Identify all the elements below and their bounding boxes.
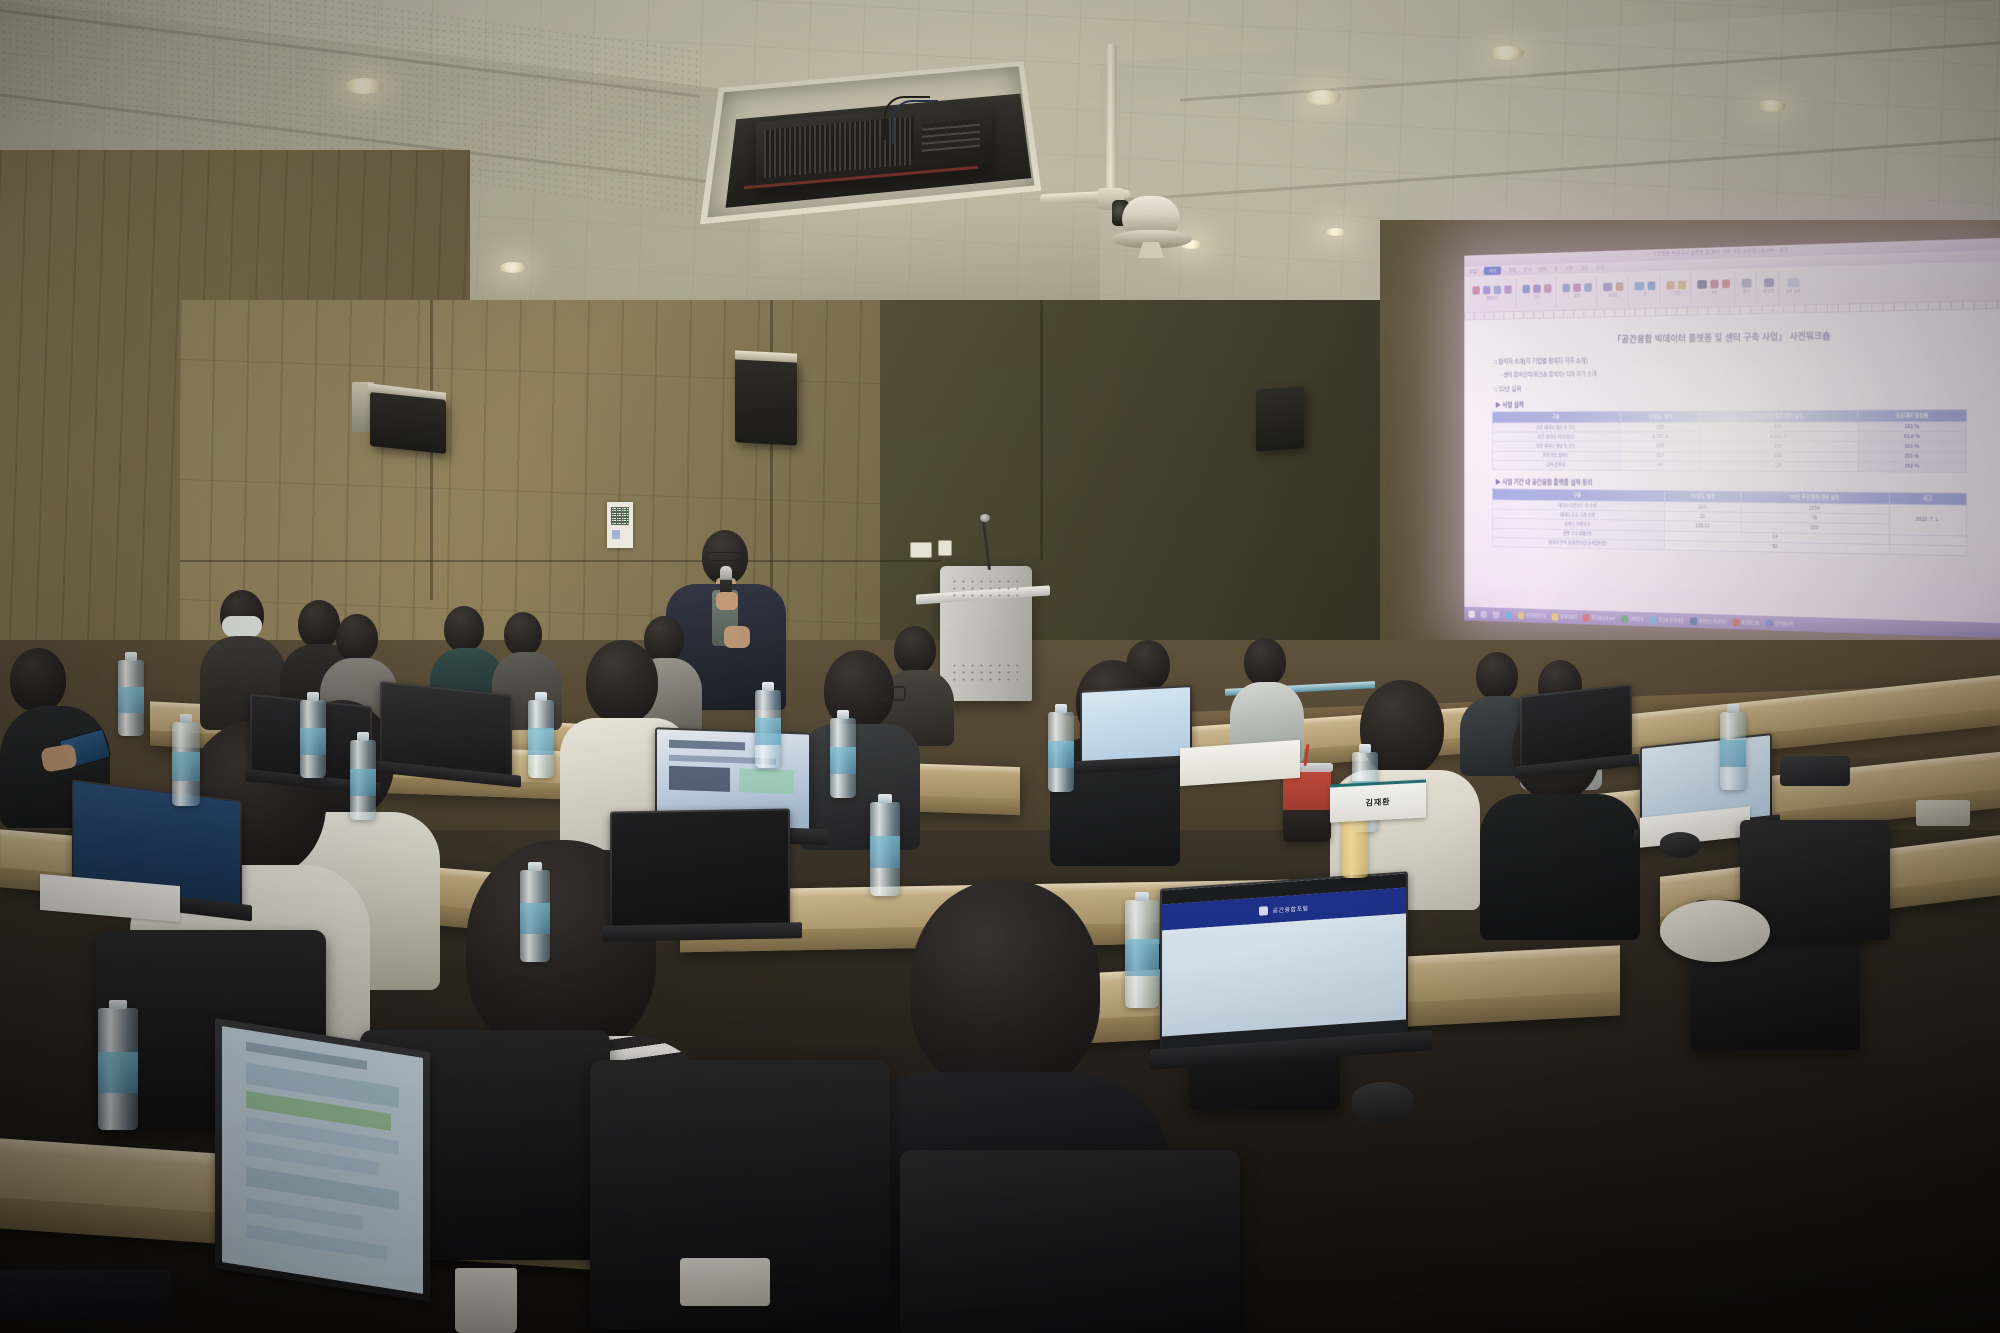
wall-speaker-right (1256, 386, 1304, 451)
object-icon[interactable] (1697, 280, 1707, 289)
table-row: 공간 데이터 처리(개수) 2,707.2 4,391.7 61.6 % (1492, 432, 1966, 442)
paper-coffee-cup (455, 1268, 517, 1333)
ribbon-group-label: 표 (1643, 292, 1646, 298)
col-header: 구분 (1492, 411, 1620, 423)
tissue-box (680, 1258, 770, 1306)
taskbar-item-attendees[interactable]: 참석자명단 (1552, 613, 1577, 621)
ribbon-group-object[interactable]: 개체 (1693, 271, 1735, 305)
attendee-head (1244, 638, 1286, 686)
qr-code-poster (607, 502, 633, 548)
slide-bullet: - 센터 참여인력(워크숍 참석자) 각자 자기 소개 (1500, 364, 1967, 378)
wall-outlet (910, 542, 932, 558)
cell-rate: 101 % (1858, 422, 1967, 432)
col-header: '22년도 실적 (1620, 411, 1700, 423)
table-icon[interactable] (1635, 282, 1644, 291)
cell-rate: 61.6 % (1858, 432, 1967, 442)
cell-planned: 163 (1701, 442, 1858, 452)
table2-heading: ▶ 사업 기간 내 공간융합 플랫폼 실적 정리 (1495, 476, 1967, 489)
ribbon-group-label: 보기 설정 (1786, 289, 1800, 295)
frame-icon[interactable] (1711, 280, 1719, 289)
lectern-speaker-grille (950, 578, 1018, 600)
cell-planned: 29 (1701, 461, 1858, 472)
water-bottle (830, 718, 856, 798)
row-label: 민간기업 참여수 (1492, 451, 1620, 461)
chart-icon[interactable] (1648, 281, 1656, 290)
row-label: 데이터 분석 요청건수(신규사업포함) (1492, 537, 1664, 550)
wall-seam (180, 560, 940, 562)
windows-start-icon[interactable] (1468, 610, 1474, 618)
ribbon-group-label: 찾기 (1743, 289, 1750, 295)
shape-icon[interactable] (1678, 281, 1686, 290)
taskbar-item-label: 워크숍자료.pdf (1591, 615, 1614, 621)
attendee-laptop-right-2[interactable] (1520, 690, 1640, 772)
menu-active-tab[interactable]: 서식 (1484, 266, 1501, 275)
menu-item-file[interactable]: 파일 (1469, 268, 1476, 275)
attendee-torso (1480, 794, 1640, 940)
water-bottle (172, 722, 200, 806)
attendee-laptop-center-front[interactable] (610, 810, 800, 940)
ribbon-group-paragraph[interactable]: 문단 (1558, 275, 1597, 308)
slide-title: 「공간융합 빅데이터 플랫폼 및 센터 구축 사업」 사전워크숍 (1492, 326, 1967, 348)
water-bottle (350, 740, 376, 820)
ceiling-downlight (345, 78, 383, 94)
row-label: 공간 데이터 개방 총 건수 (1492, 442, 1620, 452)
water-bottle (1048, 712, 1074, 792)
water-bottle (300, 700, 326, 778)
cell-note: 2022. 7. 1. (1890, 504, 1967, 535)
ribbon-group-style[interactable]: 스타일 (1599, 274, 1629, 307)
menu-item-tools[interactable]: 도구 (1596, 264, 1604, 271)
cell-rate: 152 % (1858, 462, 1967, 473)
wall-speaker-center (735, 356, 797, 445)
qr-code-icon (611, 507, 629, 525)
brush-icon[interactable] (1504, 285, 1511, 293)
ceiling-downlight (500, 262, 526, 273)
col-header: '22년 추진계획 대비 실적 (1701, 410, 1858, 422)
iced-coffee-cup (1283, 770, 1331, 842)
water-bottle (1720, 712, 1746, 790)
row-label: 실적 활용처 (1492, 460, 1620, 470)
taskbar-item-excel[interactable]: 실적집계 (1621, 615, 1644, 623)
qr-poster-accent (612, 530, 620, 539)
taskbar-item-label: 참석자명단 (1560, 614, 1577, 620)
cell-actual: 2,707.2 (1620, 432, 1700, 442)
indent-icon[interactable] (1584, 283, 1592, 292)
water-bottle (1125, 900, 1159, 1008)
chrome-browser-icon[interactable] (1517, 612, 1524, 620)
taskbar-item-teams[interactable]: 협의체회의 (1766, 619, 1793, 628)
page-icon[interactable] (1764, 278, 1774, 287)
shape-fill-icon[interactable] (1722, 279, 1730, 288)
attendee-laptop-browser[interactable]: 공간융합포털 (1160, 880, 1420, 1060)
attendee-head (910, 880, 1100, 1092)
performance-table-1: 구분 '22년도 실적 '22년 추진계획 대비 실적 목표대비 달성률 공간 … (1492, 409, 1967, 473)
attendee-head (336, 614, 378, 662)
table-row: 실적 활용처 44 29 152 % (1492, 460, 1966, 472)
menu-item-view[interactable]: 보기 (1524, 266, 1532, 273)
cell-actual: 165 (1620, 442, 1700, 452)
ribbon-group-label: 클립보드 (1486, 296, 1498, 302)
attendee-head (504, 612, 542, 656)
col-header: '22년도 실적 (1665, 490, 1741, 502)
cell-actual: 44 (1620, 461, 1700, 471)
eyeglasses-icon (880, 686, 906, 701)
ceiling-downlight (1758, 100, 1786, 112)
pdf-icon[interactable] (1583, 614, 1590, 622)
attendee-head (1476, 652, 1518, 700)
heading-icon[interactable] (1616, 282, 1624, 291)
attendee-head (444, 606, 484, 652)
taskbar-item-hwp[interactable]: 워크숍 진행계획 (1649, 616, 1683, 625)
headphones (1660, 900, 1770, 962)
paste-icon[interactable] (1494, 286, 1501, 294)
powerpoint-icon[interactable] (1733, 618, 1740, 626)
ribbon-group-page[interactable]: 쪽 모양 (1759, 270, 1780, 303)
taskbar-item-label: 워크숍 진행계획 (1658, 617, 1684, 623)
taskbar-item-word[interactable]: 사업보고서(초안) (1690, 617, 1726, 626)
water-bottle (528, 700, 554, 778)
lectern-speaker-grille (950, 662, 1018, 684)
view-icon[interactable] (1787, 277, 1799, 287)
cell-planned: 4,391.7 (1701, 432, 1858, 442)
taskbar-item-label: 공간융합포털 (1526, 613, 1546, 619)
desk-item (1916, 800, 1970, 826)
ceiling-downlight (1490, 46, 1524, 60)
menu-item-edit[interactable]: 편집 (1509, 267, 1517, 274)
taskbar-item-powerpoint[interactable]: 사전워크숍 (1733, 618, 1760, 627)
ribbon-group-table[interactable]: 표 (1630, 273, 1660, 306)
attendee-head (10, 648, 66, 712)
taskbar-item-label: 사전워크숍 (1741, 619, 1759, 625)
taskbar-item-pdf[interactable]: 워크숍자료.pdf (1583, 614, 1615, 622)
align-icon[interactable] (1562, 284, 1570, 293)
image-icon[interactable] (1667, 281, 1675, 290)
conference-room-scene: 공간융합 빅데이터 플랫폼 및 센터 구축 사업 사전워크숍.ppt - 한글 … (0, 0, 2000, 1333)
wall-outlet (938, 540, 952, 556)
water-bottle (870, 802, 900, 896)
laptop-site-title: 공간융합포털 (1272, 903, 1308, 915)
taskbar-item-portal[interactable]: 공간융합포털 (1517, 612, 1545, 620)
water-bottle (755, 690, 781, 768)
ribbon-group-label: 쪽 모양 (1763, 289, 1774, 295)
ribbon-group-label: 문단 (1574, 294, 1580, 300)
camera-mount-pole (1106, 44, 1117, 200)
performance-table-2: 구분 '22년도 실적 '22년 추진계획 대비 실적 비고 데이터 다운로드 … (1492, 488, 1967, 556)
presenter-hand (724, 626, 750, 648)
water-bottle (98, 1008, 138, 1130)
teams-icon[interactable] (1766, 619, 1773, 627)
slide-bullet: □ 참석자 소개(각 기업별 참여자 각자 소개) (1494, 350, 1967, 365)
device-case (1780, 756, 1850, 786)
underline-icon[interactable] (1544, 284, 1552, 293)
folder-icon[interactable] (1552, 613, 1559, 621)
row-label: 공간 데이터 처리(개수) (1492, 432, 1620, 442)
ribbon-group-label: 스타일 (1608, 293, 1617, 299)
binoculars-icon[interactable] (1742, 279, 1752, 288)
document-canvas[interactable]: 「공간융합 빅데이터 플랫폼 및 센터 구축 사업」 사전워크숍 □ 참석자 소… (1464, 309, 2000, 612)
presenter-hand (716, 592, 738, 610)
menu-item-security[interactable]: 보안 (1565, 265, 1573, 272)
taskbar-item-label: 사업보고서(초안) (1699, 618, 1727, 625)
edge-browser-icon[interactable] (1505, 611, 1512, 619)
ribbon-group-find[interactable]: 찾기 (1737, 270, 1757, 303)
attendee-laptop-back-left[interactable] (380, 688, 520, 780)
cell-rate: 101 % (1858, 442, 1967, 452)
taskbar-item-label: 협의체회의 (1775, 620, 1793, 626)
wall-seam (1040, 300, 1043, 560)
ceiling-downlight (1326, 228, 1346, 236)
wall-speaker-left (370, 392, 446, 454)
style-icon[interactable] (1603, 283, 1612, 292)
microphone-head-icon (980, 514, 990, 522)
ribbon-group-view[interactable]: 보기 설정 (1781, 269, 1804, 302)
taskbar-item-label: 실적집계 (1629, 616, 1643, 622)
menu-item-review[interactable]: 검토 (1581, 265, 1589, 272)
copy-icon[interactable] (1483, 286, 1490, 294)
search-icon[interactable] (1481, 610, 1488, 618)
menu-item-page[interactable]: 쪽 (1554, 266, 1558, 273)
name-placard: 김재환 (1330, 779, 1426, 822)
table1-heading: ▶ 사업 실적 (1495, 396, 1967, 408)
water-bottle (520, 870, 550, 962)
hwp-icon[interactable] (1649, 616, 1656, 624)
face-mask (222, 616, 262, 638)
ribbon-group-label: 그림 (1673, 291, 1679, 297)
wireless-mouse[interactable] (1352, 1082, 1414, 1124)
attendee-head (586, 640, 658, 724)
cell-actual: 165 (1620, 422, 1700, 432)
name-placard-text: 김재환 (1365, 796, 1390, 808)
font-icon[interactable] (1522, 285, 1529, 293)
ribbon-group-image[interactable]: 그림 (1662, 272, 1691, 305)
eyeglasses-icon (707, 552, 743, 561)
col-header: 비고 (1890, 492, 1967, 505)
cell-actual: 327 (1620, 451, 1700, 461)
water-bottle (118, 660, 144, 736)
cell-planned: 163 (1701, 422, 1858, 432)
ribbon-group-clipboard[interactable]: 클립보드 (1468, 277, 1516, 309)
ribbon-group-label: 글자 (1534, 295, 1540, 301)
cut-icon[interactable] (1472, 286, 1479, 294)
ribbon-group-font[interactable]: 글자 (1518, 276, 1556, 308)
table-row: 공간 데이터 제공 총 건수 165 163 101 % (1492, 422, 1966, 433)
attendee-tablet-document[interactable] (215, 1035, 445, 1305)
keyboard (0, 1270, 170, 1320)
wireless-mouse[interactable] (1660, 832, 1700, 858)
col-header: 목표대비 달성률 (1858, 410, 1967, 422)
cell-note (1890, 544, 1967, 556)
cell-rate: 311 % (1858, 452, 1967, 462)
cell-planned: 105 (1701, 451, 1858, 461)
projector-cable (892, 100, 938, 144)
ceiling-downlight (1305, 90, 1341, 105)
list-icon[interactable] (1573, 283, 1581, 292)
menu-item-input[interactable]: 입력 (1539, 266, 1547, 273)
excel-icon[interactable] (1621, 615, 1628, 623)
bold-icon[interactable] (1533, 285, 1540, 294)
chair (900, 1150, 1240, 1333)
projection-screen: 공간융합 빅데이터 플랫폼 및 센터 구축 사업 사전워크숍.ppt - 한글 … (1464, 238, 2000, 638)
word-icon[interactable] (1690, 617, 1697, 625)
row-label: 공간 데이터 제공 총 건수 (1492, 423, 1620, 433)
ribbon-group-label: 개체 (1710, 290, 1717, 296)
slide-bullet: □ '22년 실적 (1494, 380, 1967, 393)
task-view-icon[interactable] (1493, 611, 1500, 619)
